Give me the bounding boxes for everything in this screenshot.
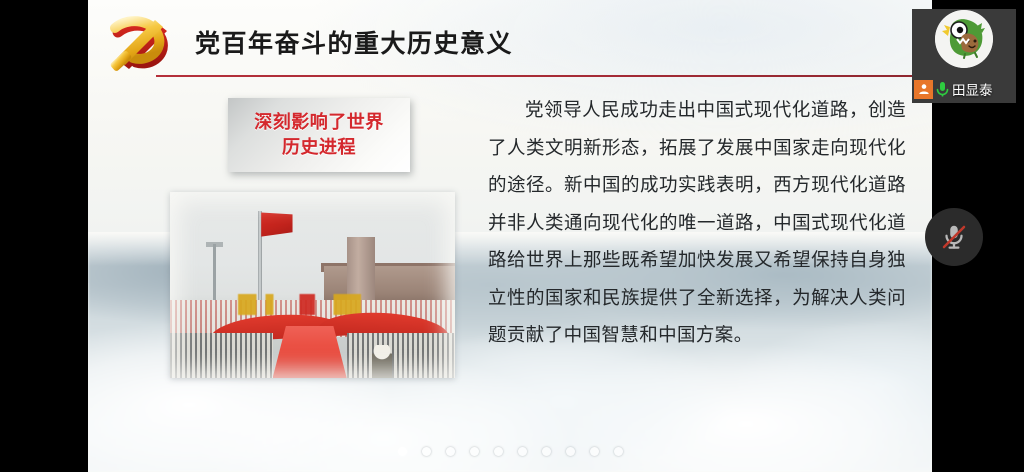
participant-name-bar: 田显泰 [912, 78, 1016, 100]
pager-dot[interactable] [422, 447, 431, 456]
presentation-slide[interactable]: 党百年奋斗的重大历史意义 深刻影响了世界 历史进程 [88, 0, 932, 472]
pager-dot[interactable] [566, 447, 575, 456]
slide-body-text: 党领导人民成功走出中国式现代化道路，创造了人类文明新形态，拓展了发展中国家走向现… [488, 92, 906, 355]
screen-share-view: 党百年奋斗的重大历史意义 深刻影响了世界 历史进程 [0, 0, 1024, 472]
pager-dot[interactable] [518, 447, 527, 456]
title-divider-rule [156, 75, 932, 77]
callout-line-1: 深刻影响了世界 [254, 110, 384, 135]
participant-video-tile[interactable]: 田显泰 [912, 9, 1016, 103]
cartoon-dinosaur-bear-avatar-icon [935, 10, 993, 68]
pager-dot[interactable] [470, 447, 479, 456]
pager-dot[interactable] [446, 447, 455, 456]
hammer-sickle-emblem-icon [104, 10, 176, 76]
pager-dot[interactable] [542, 447, 551, 456]
slide-title: 党百年奋斗的重大历史意义 [195, 24, 513, 60]
slide-pager[interactable] [88, 447, 932, 456]
microphone-on-icon [935, 80, 950, 99]
host-person-icon [914, 80, 933, 99]
pager-dot[interactable] [398, 447, 407, 456]
participant-name: 田显泰 [952, 79, 993, 99]
callout-line-2: 历史进程 [282, 135, 356, 160]
callout-box: 深刻影响了世界 历史进程 [228, 98, 410, 172]
photo-vignette [170, 192, 455, 378]
microphone-muted-icon [939, 222, 969, 252]
slide-header: 党百年奋斗的重大历史意义 [88, 0, 932, 86]
tiananmen-ceremony-photo [170, 192, 455, 378]
mute-toggle-button[interactable] [925, 208, 983, 266]
pager-dot[interactable] [590, 447, 599, 456]
pager-dot[interactable] [614, 447, 623, 456]
pager-dot[interactable] [494, 447, 503, 456]
